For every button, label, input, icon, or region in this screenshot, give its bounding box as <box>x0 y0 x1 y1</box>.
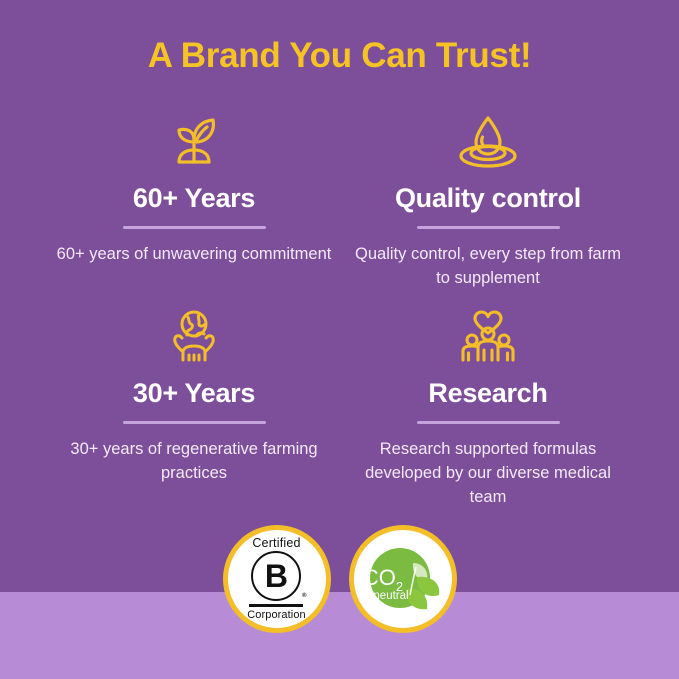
page-title: A Brand You Can Trust! <box>0 36 679 76</box>
feature-description: Research supported formulas developed by… <box>338 437 638 509</box>
feature-heading: 60+ Years <box>44 184 344 214</box>
people-heart-icon <box>338 303 638 365</box>
brand-trust-infographic: A Brand You Can Trust! 60+ Years 60+ yea… <box>0 0 679 679</box>
b-corp-certified-label: Certified <box>252 537 300 550</box>
feature-card-research: Research Research supported formulas dev… <box>338 303 638 509</box>
co2-neutral-mark: CO2 neutral <box>357 533 449 625</box>
feature-description: 30+ years of regenerative farming practi… <box>44 437 344 485</box>
b-corp-letter: B ® <box>251 551 301 601</box>
feature-divider <box>123 421 266 424</box>
feature-heading: Research <box>338 379 638 409</box>
feature-divider <box>417 421 560 424</box>
registered-trademark-icon: ® <box>302 593 306 599</box>
neutral-label: neutral <box>373 590 408 602</box>
feature-divider <box>123 226 266 229</box>
b-corp-letter-glyph: B <box>265 560 288 592</box>
feature-heading: Quality control <box>338 184 638 214</box>
feature-divider <box>417 226 560 229</box>
seedling-sprout-icon <box>44 108 344 170</box>
feature-card-60-years: 60+ Years 60+ years of unwavering commit… <box>44 108 344 266</box>
b-corp-mark: Certified B ® Corporation <box>247 537 306 621</box>
b-corp-rule <box>249 604 303 607</box>
feature-card-quality-control: Quality control Quality control, every s… <box>338 108 638 290</box>
b-corp-certification-badge: Certified B ® Corporation <box>223 525 331 633</box>
feature-description: Quality control, every step from farm to… <box>338 242 638 290</box>
feature-card-30-years: 30+ Years 30+ years of regenerative farm… <box>44 303 344 485</box>
feature-heading: 30+ Years <box>44 379 344 409</box>
hands-holding-globe-icon <box>44 303 344 365</box>
feature-description: 60+ years of unwavering commitment <box>44 242 344 266</box>
co2-neutral-badge: CO2 neutral <box>349 525 457 633</box>
b-corp-corporation-label: Corporation <box>247 610 306 621</box>
water-droplet-ripple-icon <box>338 108 638 170</box>
certification-badges: Certified B ® Corporation CO2 neutral <box>0 525 679 633</box>
